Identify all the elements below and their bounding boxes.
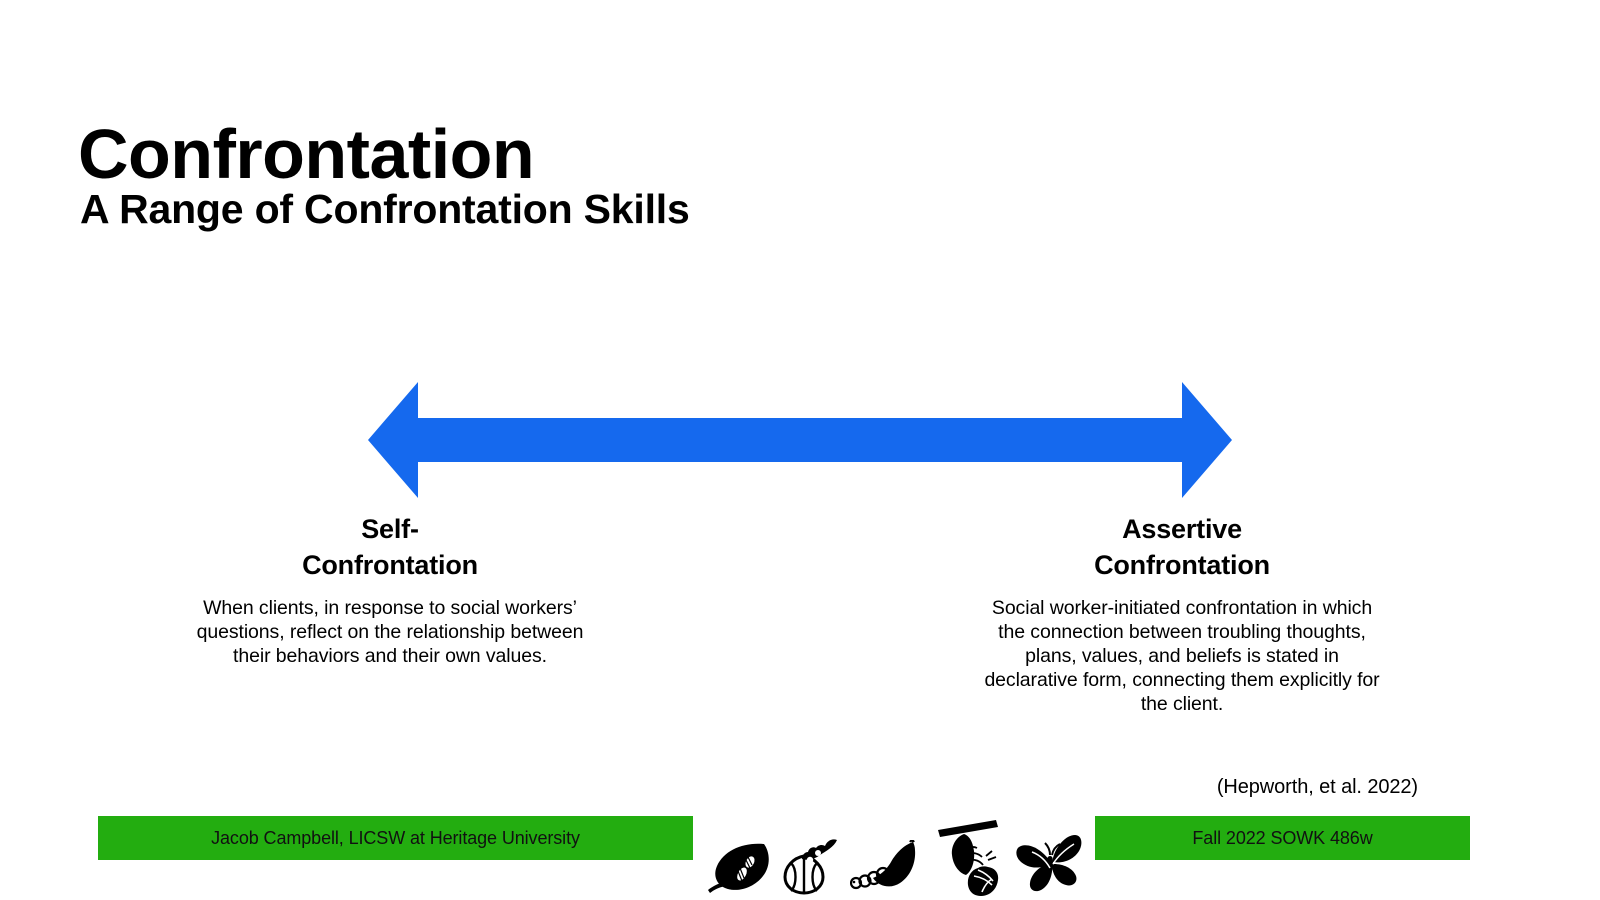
butterfly-icon — [1016, 834, 1086, 896]
hatching-egg-icon — [780, 836, 842, 896]
citation-text: (Hepworth, et al. 2022) — [1217, 776, 1418, 799]
double-arrow-icon — [360, 375, 1240, 505]
footer-author-bar: Jacob Campbell, LICSW at Heritage Univer… — [98, 816, 693, 860]
slide-canvas: Confrontation A Range of Confrontation S… — [0, 0, 1600, 900]
footer-course-bar: Fall 2022 SOWK 486w — [1095, 816, 1470, 860]
pole-left-label: Self- Confrontation — [180, 512, 600, 583]
pole-right-label: Assertive Confrontation — [972, 512, 1392, 583]
pole-right-description: Social worker-initiated confrontation in… — [972, 597, 1392, 717]
pole-assertive-confrontation: Assertive Confrontation Social worker-in… — [972, 512, 1392, 717]
footer-author-text: Jacob Campbell, LICSW at Heritage Univer… — [211, 828, 580, 849]
footer-course-text: Fall 2022 SOWK 486w — [1192, 828, 1372, 849]
eggs-on-leaf-icon — [706, 840, 772, 896]
continuum-arrow — [360, 375, 1240, 505]
metamorphosis-icon-strip — [706, 800, 1086, 896]
chrysalis-icon — [934, 820, 1008, 896]
caterpillar-icon — [850, 840, 926, 896]
page-title: Confrontation — [78, 119, 534, 189]
page-subtitle: A Range of Confrontation Skills — [80, 189, 690, 230]
pole-self-confrontation: Self- Confrontation When clients, in res… — [180, 512, 600, 669]
pole-left-description: When clients, in response to social work… — [180, 597, 600, 669]
